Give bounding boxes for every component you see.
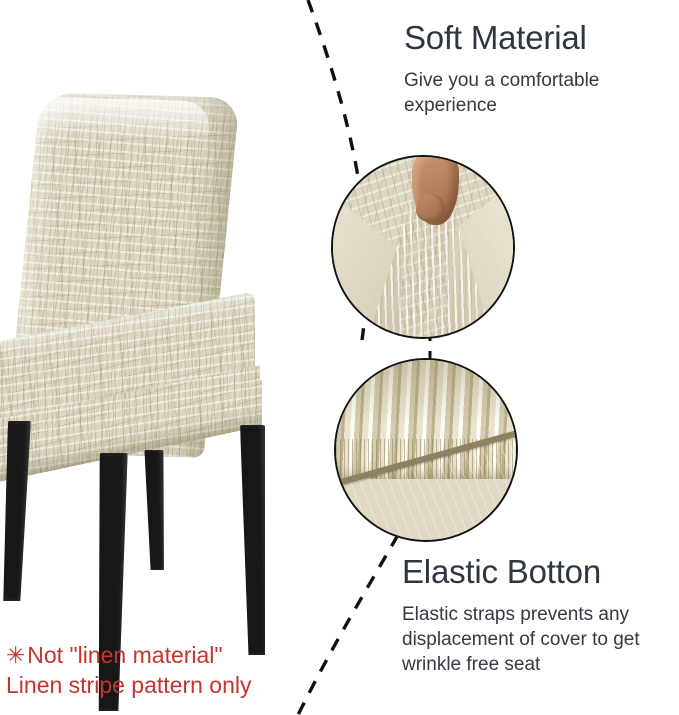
callout-circle-soft-material — [331, 155, 515, 339]
fabric-stretch-photo — [333, 157, 513, 337]
elastic-hem-photo — [336, 360, 516, 540]
feature-body-elastic-bottom: Elastic straps prevents any displacement… — [402, 602, 676, 677]
thumb-icon — [416, 193, 445, 222]
feature-text-elastic-bottom: Elastic Botton Elastic straps prevents a… — [402, 552, 676, 677]
disclaimer-text-1: Not "linen material" — [27, 642, 222, 668]
disclaimer-line-2: Linen stripe pattern only — [6, 670, 316, 700]
chair-product-photo — [0, 95, 330, 635]
callout-circle-elastic-bottom — [334, 358, 518, 542]
infographic-canvas: Soft Material Give you a comfortable exp… — [0, 0, 679, 715]
chair-leg-front-right — [240, 425, 269, 655]
feature-body-soft-material: Give you a comfortable experience — [404, 68, 672, 118]
feature-headline-soft-material: Soft Material — [404, 18, 672, 58]
feature-text-soft-material: Soft Material Give you a comfortable exp… — [404, 18, 672, 118]
chair-leg-back-right — [144, 450, 166, 570]
material-disclaimer: ✳Not "linen material" Linen stripe patte… — [6, 640, 316, 700]
disclaimer-line-1: ✳Not "linen material" — [6, 640, 316, 670]
asterisk-icon: ✳ — [6, 640, 25, 670]
feature-headline-elastic-bottom: Elastic Botton — [402, 552, 676, 592]
